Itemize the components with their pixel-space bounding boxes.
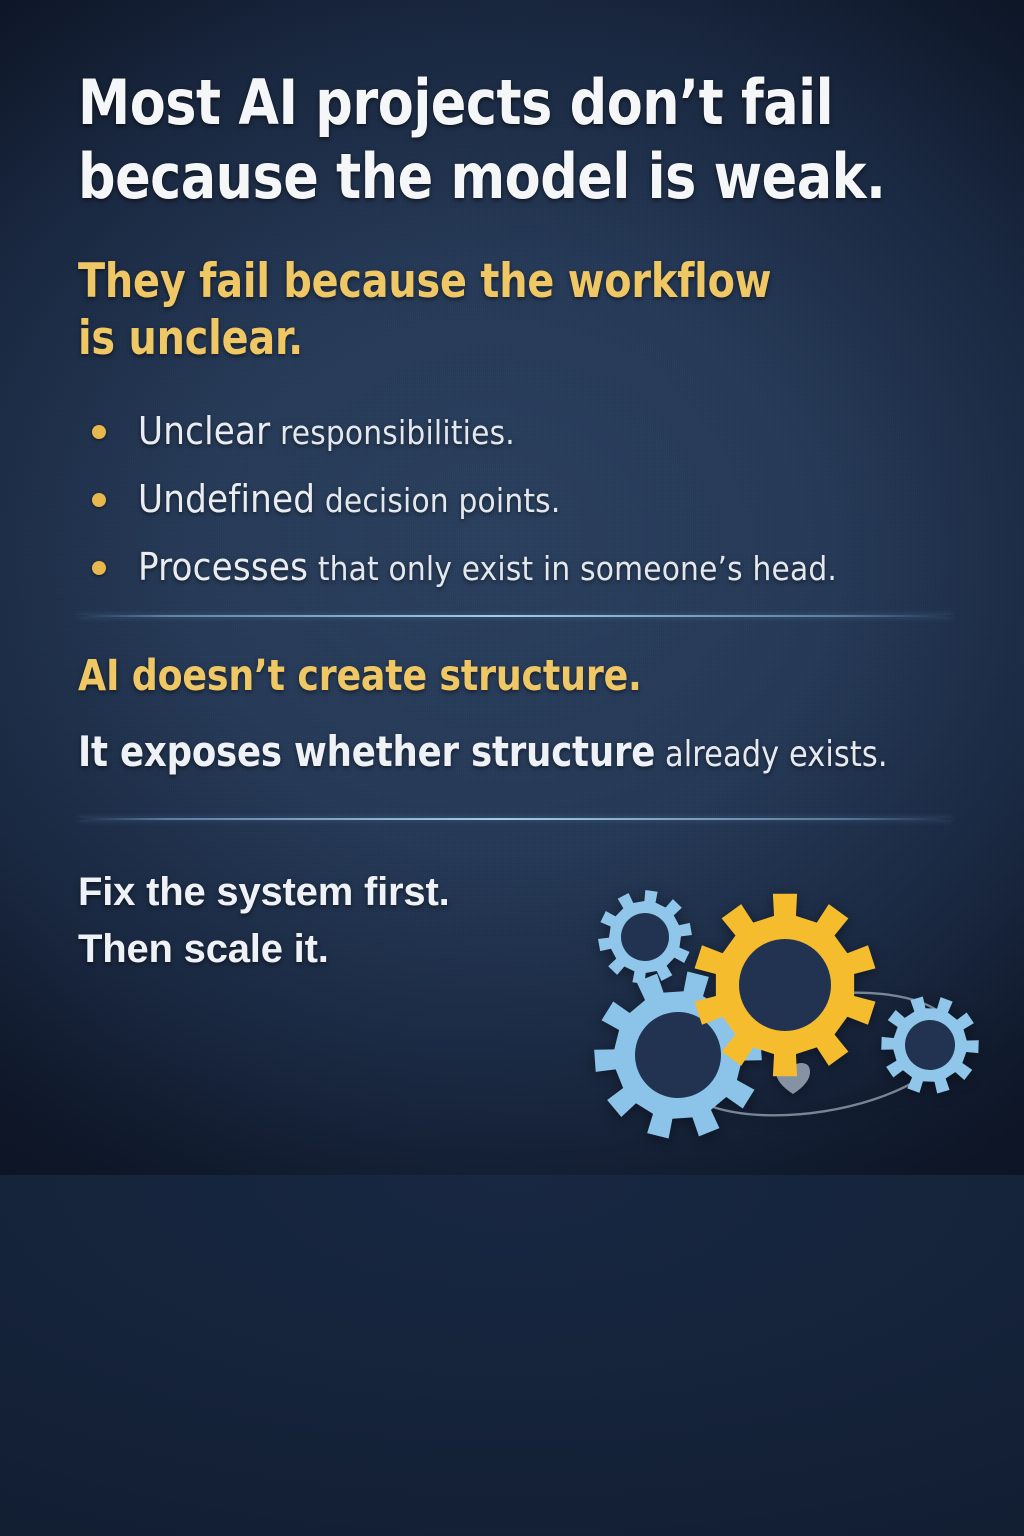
headline-line-1: Most AI projects don’t fail	[78, 66, 833, 139]
lower-empty-area	[0, 1175, 1024, 1536]
content-panel: Most AI projects don’t fail because the …	[0, 0, 1024, 1175]
bullet-lead-word: Undefined	[138, 477, 315, 521]
subhead-line-1: They fail because the workflow	[78, 254, 771, 309]
bullet-lead-word: Unclear	[138, 409, 270, 453]
gear-blue-small-top	[593, 884, 698, 989]
bullet-dot-icon	[92, 493, 106, 507]
list-item: Processes that only exist in someone’s h…	[92, 545, 946, 589]
subheading: They fail because the workflow is unclea…	[78, 215, 894, 368]
list-item: Unclear responsibilities.	[92, 409, 946, 453]
bullet-lead-word: Processes	[138, 545, 308, 589]
failure-reasons-list: Unclear responsibilities. Undefined deci…	[78, 367, 946, 589]
statement-gold: AI doesn’t create structure.	[78, 617, 894, 701]
gear-blue-small-right	[868, 983, 992, 1107]
subhead-line-2: is unclear.	[78, 311, 303, 366]
page-title: Most AI projects don’t fail because the …	[78, 0, 894, 215]
gears-svg	[580, 862, 1000, 1162]
bullet-rest-text: decision points.	[315, 481, 560, 520]
bullet-dot-icon	[92, 425, 106, 439]
bullet-rest-text: responsibilities.	[270, 413, 514, 452]
bullet-rest-text: that only exist in someone’s head.	[308, 549, 837, 588]
content-column: Most AI projects don’t fail because the …	[0, 0, 1024, 978]
bullet-dot-icon	[92, 561, 106, 575]
statement-light-text: already exists.	[655, 734, 887, 775]
closing-line-2: Then scale it.	[78, 927, 329, 971]
closing-line-1: Fix the system first.	[78, 870, 449, 914]
poster-canvas: Most AI projects don’t fail because the …	[0, 0, 1024, 1536]
gears-illustration	[580, 862, 1000, 1162]
statement-strong-text: It exposes whether structure	[78, 727, 655, 776]
headline-line-2: because the model is weak.	[78, 140, 885, 213]
statement-white: It exposes whether structure already exi…	[78, 701, 894, 776]
gear-yellow-large-hub	[739, 939, 831, 1031]
list-item: Undefined decision points.	[92, 477, 946, 521]
